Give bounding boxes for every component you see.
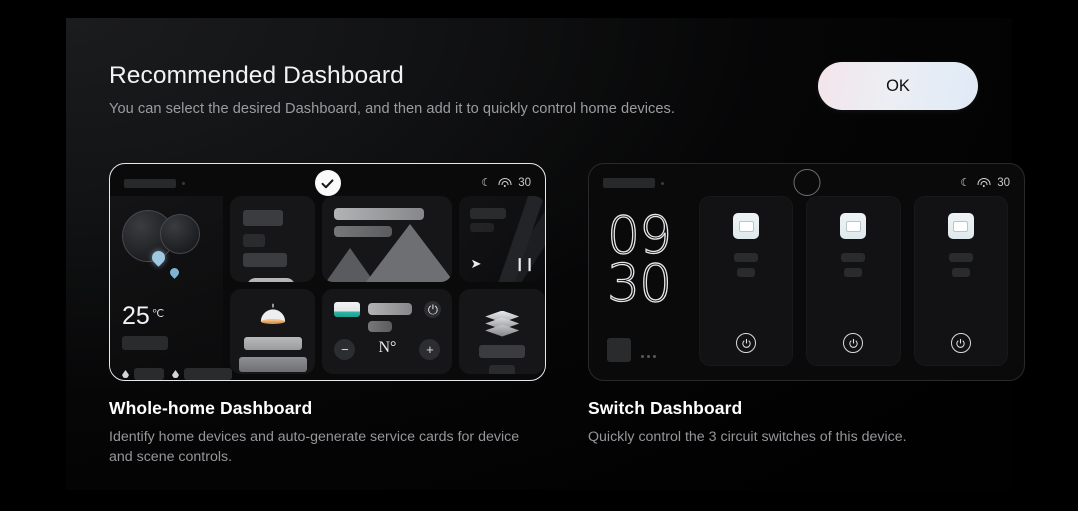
power-icon[interactable] [736,333,756,353]
moon-icon: ☾ [960,178,970,189]
switch-icon [948,213,974,239]
dashboard-option-whole-home[interactable]: ☾ 30 [109,163,546,467]
dialog-subtitle: You can select the desired Dashboard, an… [109,101,675,117]
selected-check-badge[interactable] [315,170,341,196]
power-icon[interactable] [951,333,971,353]
raindrop-icon-small [168,266,181,279]
power-icon[interactable]: ⏻ [424,301,441,318]
layers-icon [485,311,519,337]
status-dot [182,182,185,185]
placeholder-bar [368,321,392,332]
scene-tile[interactable] [459,289,545,375]
air-conditioner-icon [334,302,360,317]
switch-icon [733,213,759,239]
check-icon [320,176,335,191]
moon-icon: ☾ [481,178,491,189]
image-placeholder-icon [322,224,452,282]
status-bar-left [603,178,960,188]
weather-tile[interactable]: 25 ℃ [110,196,223,374]
placeholder-bar [368,303,412,315]
pause-icon[interactable]: ❙❙ [514,256,534,272]
image-tile[interactable] [322,196,452,282]
placeholder-bar [479,345,525,358]
dashboard-options-list: ☾ 30 [109,163,1025,467]
lamp-tile[interactable] [230,289,316,375]
dialog-header: Recommended Dashboard You can select the… [109,63,675,117]
device-tile[interactable] [230,196,316,282]
placeholder-bar [334,208,424,220]
wifi-icon [977,178,990,188]
card-description-switch: Quickly control the 3 circuit switches o… [588,427,1008,447]
humidity-row-1 [122,368,164,380]
placeholder-bar [489,365,515,375]
temperature-increase-button[interactable]: + [419,339,440,360]
toggle-pill[interactable] [247,278,295,282]
temperature-decrease-button[interactable]: − [334,339,355,360]
placeholder-bar [470,223,494,232]
switch-panel-1[interactable] [699,196,793,366]
recommended-dashboard-dialog: Recommended Dashboard You can select the… [66,18,1012,490]
humidity-row-2 [172,368,232,380]
switch-panels [699,194,1024,380]
switch-preview-body: 09 30 [589,194,1024,380]
status-bar-right: ☾ 30 [481,177,531,189]
ok-button[interactable]: OK [818,62,978,110]
placeholder-bar [184,368,232,380]
switch-panel-3[interactable] [914,196,1008,366]
temperature-unit: ℃ [152,307,164,320]
placeholder-bar [122,336,168,350]
droplet-icon [172,370,179,378]
card-description-whole-home: Identify home devices and auto-generate … [109,427,529,467]
wifi-icon [498,178,511,188]
clock-minutes: 30 [607,260,671,308]
status-dot [661,182,664,185]
placeholder-bar [949,253,973,262]
clock-column: 09 30 [589,194,699,380]
placeholder-bar [243,253,287,267]
temperature-value: 25 [122,304,150,329]
placeholder-bar [239,357,307,372]
placeholder-bar [243,210,283,226]
dashboard-option-switch[interactable]: ☾ 30 09 30 [588,163,1025,467]
media-tile[interactable]: ➤ ❙❙ [459,196,545,282]
placeholder-bar [734,253,758,262]
placeholder-bar [607,338,631,362]
switch-preview[interactable]: ☾ 30 09 30 [588,163,1025,381]
clock-display: 09 30 [607,212,671,309]
placeholder-bar [841,253,865,262]
droplet-icon [122,370,129,378]
placeholder-bar [603,178,655,188]
card-title-switch: Switch Dashboard [588,398,1025,419]
status-bar-right: ☾ 30 [960,177,1010,189]
whole-home-tile-grid: 25 ℃ [110,196,545,380]
more-dots-icon [641,355,656,358]
placeholder-bar [470,208,506,219]
status-bar-value: 30 [518,177,531,189]
thermostat-tile[interactable]: ⏻ − N° + [322,289,452,375]
page-title: Recommended Dashboard [109,63,675,90]
placeholder-bar [737,268,755,277]
placeholder-bar [952,268,970,277]
card-title-whole-home: Whole-home Dashboard [109,398,546,419]
placeholder-bar [844,268,862,277]
screen: Recommended Dashboard You can select the… [0,0,1078,511]
status-bar-value: 30 [997,177,1010,189]
temperature-readout: 25 ℃ [122,304,164,329]
thermostat-value: N° [378,339,396,357]
lamp-icon [254,301,292,329]
placeholder-bar [134,368,164,380]
placeholder-bar [244,337,302,350]
whole-home-preview[interactable]: ☾ 30 [109,163,546,381]
switch-icon [840,213,866,239]
placeholder-bar [243,234,265,247]
unselected-radio[interactable] [793,169,820,196]
placeholder-bar [124,179,176,188]
switch-panel-2[interactable] [806,196,900,366]
clock-hours: 09 [607,212,671,260]
status-bar-left [124,179,481,188]
play-icon[interactable]: ➤ [470,256,481,272]
power-icon[interactable] [843,333,863,353]
